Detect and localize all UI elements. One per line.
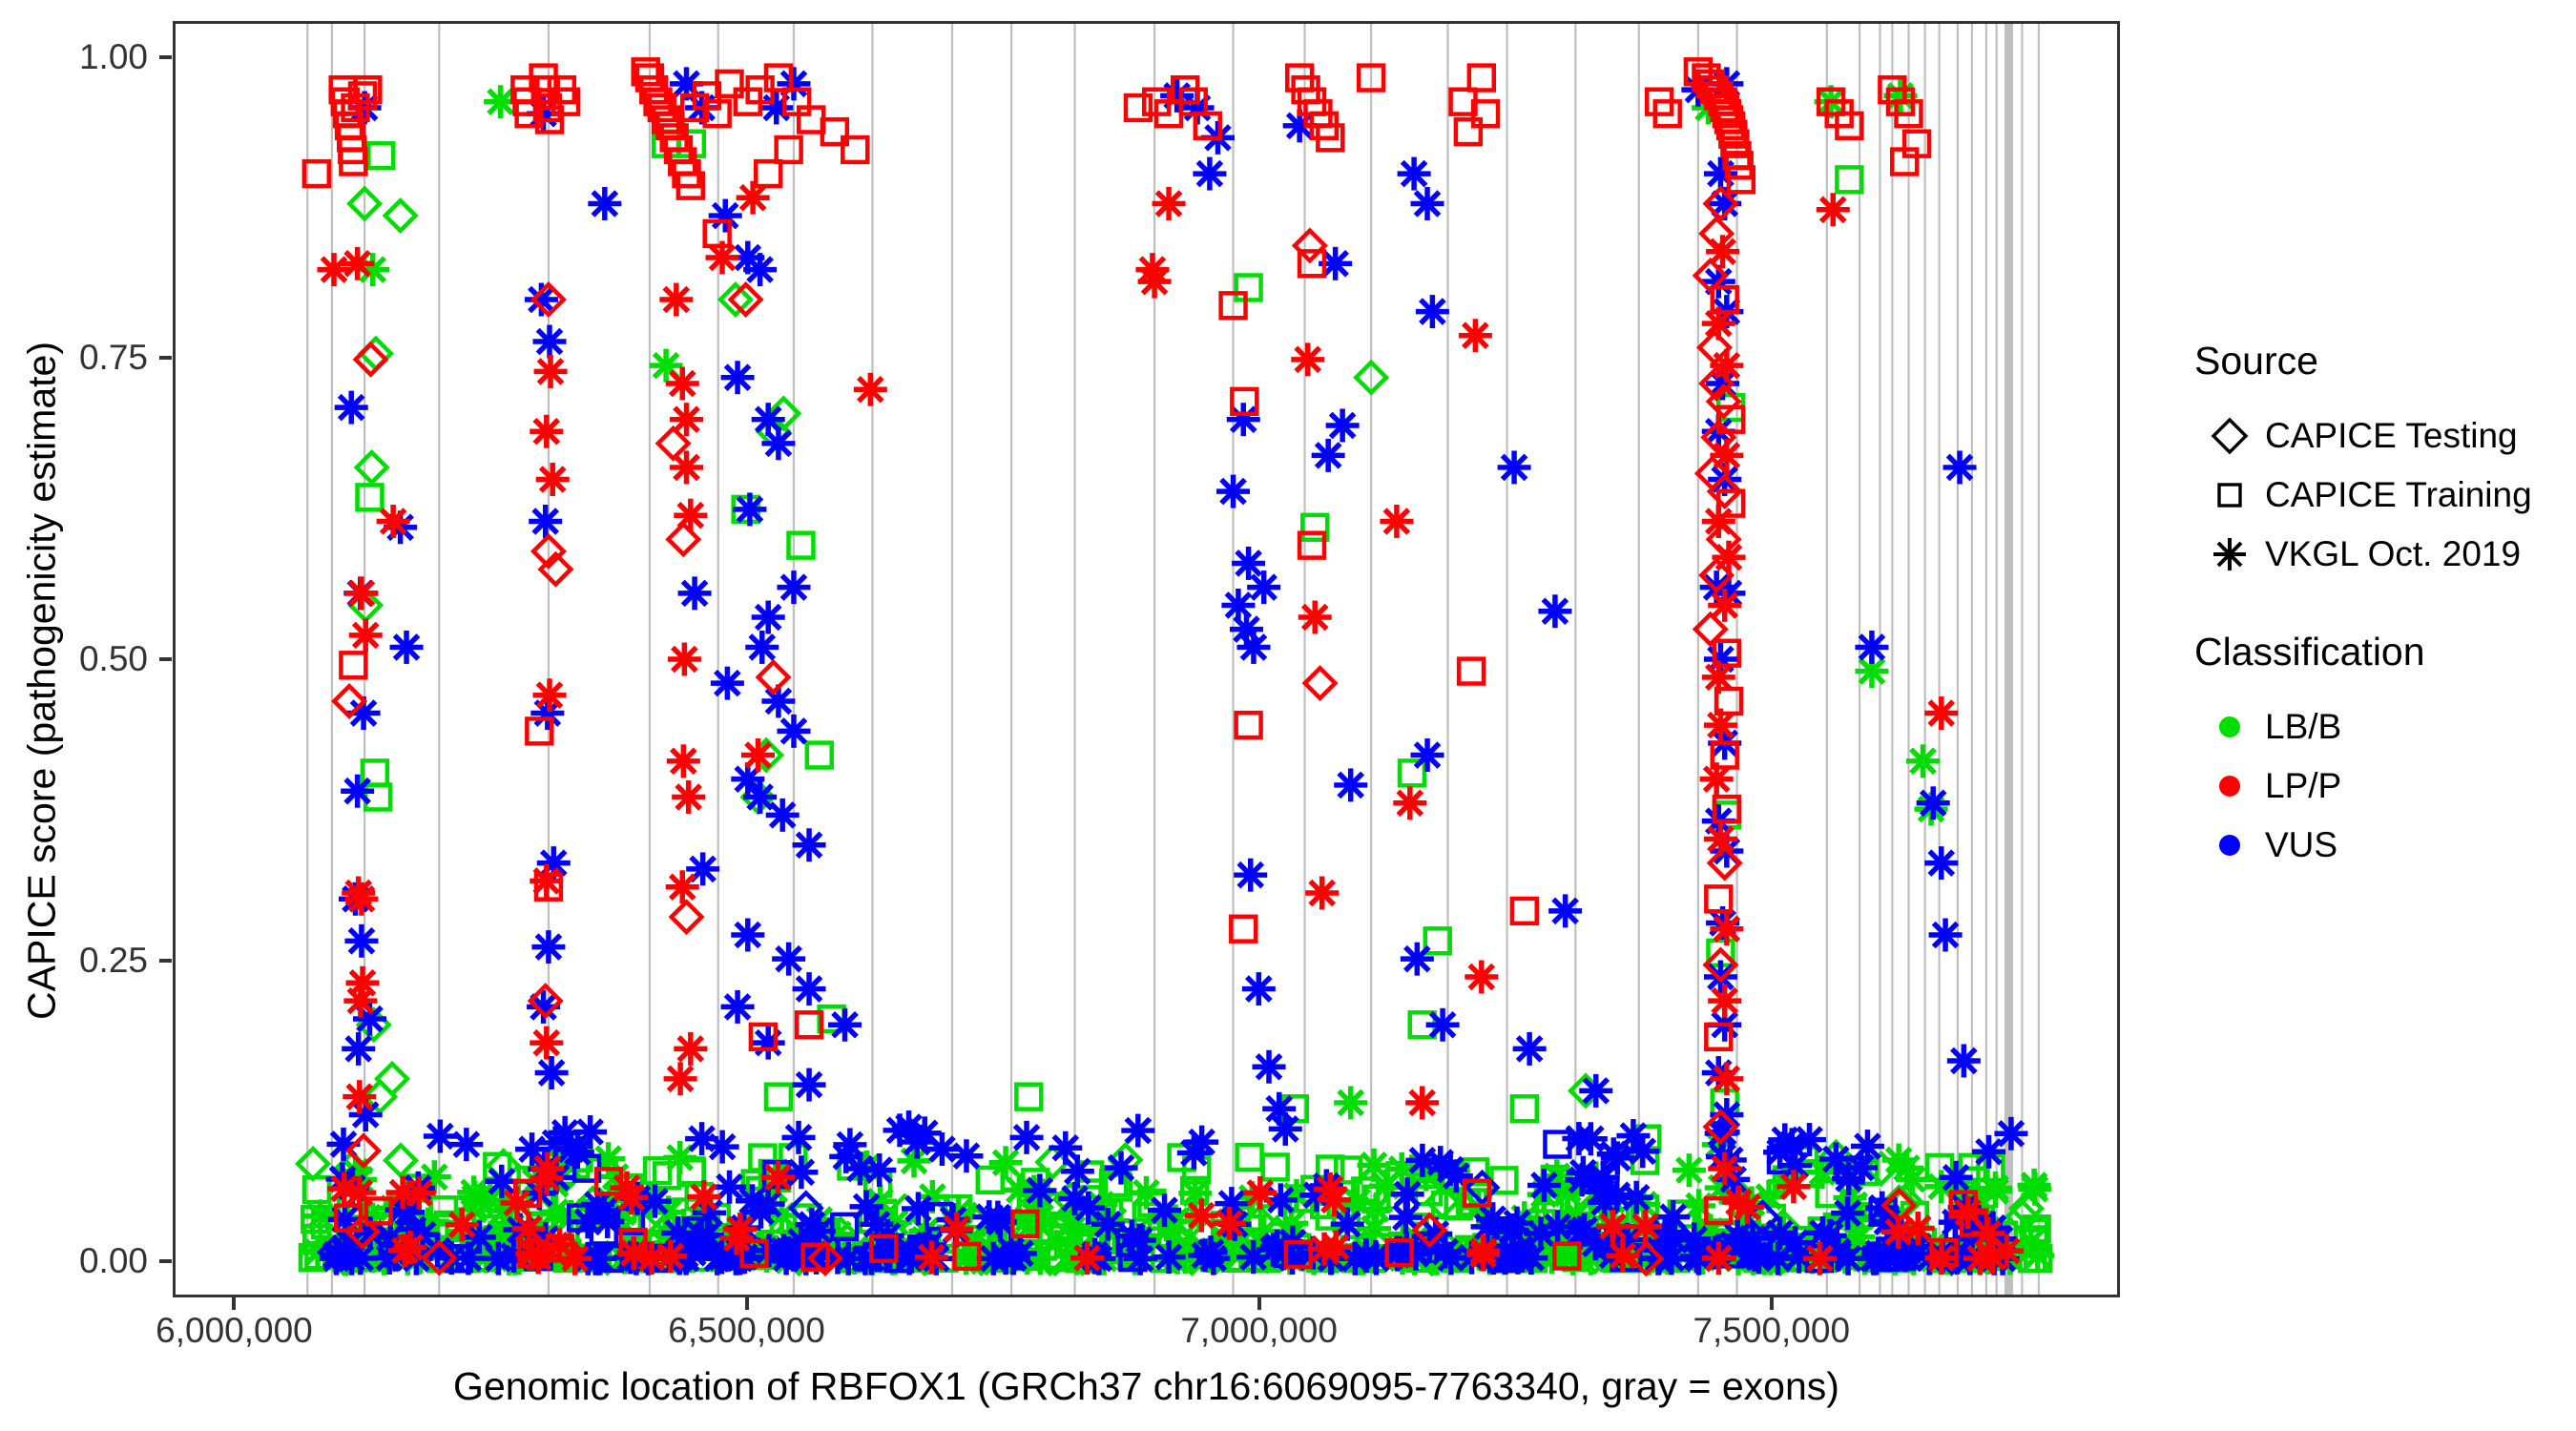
marker-asterisk: [782, 1121, 816, 1154]
marker-asterisk: [902, 1192, 935, 1225]
marker-asterisk: [1704, 961, 1737, 994]
asterisk-icon: [2194, 532, 2265, 576]
marker-diamond: [1305, 668, 1336, 698]
marker-asterisk: [997, 1241, 1030, 1275]
marker-square: [1237, 1145, 1262, 1170]
marker-diamond: [720, 284, 751, 315]
marker-diamond: [361, 339, 391, 369]
marker-asterisk: [341, 247, 374, 280]
marker-square: [1231, 917, 1256, 942]
marker-asterisk: [670, 450, 703, 484]
marker-asterisk: [1708, 985, 1741, 1018]
marker-asterisk: [1929, 919, 1963, 952]
marker-asterisk: [772, 943, 805, 976]
marker-asterisk: [752, 601, 785, 634]
marker-asterisk: [664, 1062, 697, 1095]
marker-asterisk: [672, 780, 705, 814]
marker-asterisk: [1588, 1186, 1621, 1219]
x-axis-tick-label: 6,000,000: [156, 1311, 313, 1351]
marker-asterisk: [723, 1213, 757, 1246]
marker-asterisk: [1401, 943, 1434, 976]
marker-asterisk: [530, 1027, 563, 1060]
marker-asterisk: [343, 1176, 376, 1210]
marker-asterisk: [674, 1032, 707, 1066]
marker-asterisk: [1606, 1239, 1639, 1273]
marker-asterisk: [1601, 1141, 1634, 1174]
marker-asterisk: [1148, 1193, 1181, 1227]
marker-asterisk: [1411, 738, 1444, 772]
x-axis-tick-mark: [1770, 1297, 1774, 1310]
marker-asterisk: [883, 1113, 917, 1147]
marker-square: [365, 785, 390, 810]
marker-asterisk: [446, 1208, 479, 1241]
y-axis-tick-label: 0.50: [79, 639, 148, 679]
marker-diamond: [357, 452, 387, 483]
marker-asterisk: [531, 930, 565, 964]
marker-diamond: [758, 662, 789, 693]
marker-asterisk: [1234, 859, 1267, 892]
legend-title-source: Source: [2194, 339, 2566, 384]
marker-square: [1837, 167, 1861, 192]
marker-asterisk: [1704, 157, 1737, 191]
marker-asterisk: [635, 1241, 669, 1275]
marker-asterisk: [706, 241, 739, 275]
marker-asterisk: [1298, 601, 1332, 634]
marker-asterisk: [1105, 1151, 1138, 1185]
marker-asterisk: [666, 870, 699, 903]
legend-item-label: CAPICE Training: [2265, 475, 2532, 515]
marker-asterisk: [761, 426, 795, 460]
marker-asterisk: [1193, 157, 1226, 191]
marker-asterisk: [743, 253, 777, 286]
marker-asterisk: [687, 1180, 720, 1213]
marker-asterisk: [1596, 1210, 1630, 1243]
circle-icon: [2194, 705, 2265, 749]
y-axis-tick-mark: [159, 356, 172, 360]
marker-asterisk: [1058, 1182, 1091, 1215]
marker-asterisk: [1185, 1126, 1218, 1159]
marker-square: [756, 161, 780, 186]
marker-square: [766, 1085, 791, 1110]
x-axis-tick-label: 6,500,000: [668, 1311, 825, 1351]
marker-asterisk: [1579, 1074, 1612, 1108]
marker-square: [304, 161, 329, 186]
marker-asterisk: [666, 367, 699, 401]
legend-item-label: VKGL Oct. 2019: [2265, 534, 2521, 574]
marker-asterisk: [761, 1161, 795, 1194]
marker-asterisk: [1831, 1196, 1864, 1230]
plot-panel: [173, 21, 2120, 1297]
legend-item-label: CAPICE Testing: [2265, 416, 2518, 456]
marker-asterisk: [2021, 1238, 2054, 1272]
marker-asterisk: [1023, 1173, 1056, 1207]
legend-item-vus[interactable]: VUS: [2194, 816, 2566, 875]
marker-asterisk: [1925, 1241, 1959, 1275]
marker-asterisk: [1548, 894, 1582, 927]
legend-item-vkgl-oct-2019[interactable]: VKGL Oct. 2019: [2194, 525, 2566, 584]
marker-square: [1706, 886, 1731, 911]
marker-asterisk: [1405, 1144, 1439, 1177]
marker-asterisk: [854, 373, 887, 406]
marker-square: [1469, 66, 1494, 91]
marker-asterisk: [424, 1120, 457, 1153]
marker-asterisk: [1061, 1154, 1094, 1188]
marker-asterisk: [2018, 1169, 2051, 1202]
marker-asterisk: [1236, 631, 1270, 664]
marker-asterisk: [777, 67, 810, 100]
marker-asterisk: [515, 1132, 549, 1166]
marker-square: [777, 137, 801, 162]
marker-asterisk: [342, 1032, 375, 1066]
marker-asterisk: [1704, 709, 1737, 742]
marker-diamond: [731, 284, 761, 315]
marker-asterisk: [1710, 1062, 1743, 1095]
marker-asterisk: [1943, 450, 1977, 484]
marker-asterisk: [1629, 1210, 1662, 1243]
legend-item-label: LB/B: [2265, 707, 2341, 747]
marker-asterisk: [1153, 1240, 1186, 1274]
marker-asterisk: [534, 355, 568, 388]
marker-asterisk: [1708, 1152, 1741, 1186]
marker-asterisk: [1178, 1176, 1212, 1210]
marker-asterisk: [393, 1231, 426, 1264]
y-axis-tick-label: 0.00: [79, 1241, 148, 1281]
marker-square: [1459, 659, 1484, 684]
legend-container: SourceCAPICE TestingCAPICE TrainingVKGL …: [2194, 339, 2566, 875]
marker-asterisk: [1803, 1242, 1837, 1275]
marker-asterisk: [1242, 972, 1276, 1006]
marker-asterisk: [1963, 1242, 1997, 1275]
marker-square: [368, 143, 393, 168]
marker-asterisk: [1672, 1153, 1706, 1187]
diamond-icon: [2194, 414, 2265, 458]
marker-square: [1359, 66, 1383, 91]
y-axis-tick-label: 1.00: [79, 37, 148, 77]
y-axis-tick-mark: [159, 1259, 172, 1263]
marker-asterisk: [1416, 295, 1449, 328]
marker-asterisk: [344, 576, 378, 610]
marker-square: [1126, 95, 1151, 120]
legend-item-capice-training[interactable]: CAPICE Training: [2194, 466, 2566, 525]
marker-asterisk: [1731, 1191, 1764, 1224]
series-LPP: [304, 59, 2024, 1275]
marker-asterisk: [668, 643, 701, 676]
legend-item-lb-b[interactable]: LB/B: [2194, 697, 2566, 757]
marker-asterisk: [1312, 439, 1345, 472]
marker-asterisk: [343, 1080, 376, 1113]
marker-asterisk: [1498, 450, 1531, 484]
marker-diamond: [356, 344, 386, 375]
marker-asterisk: [1010, 1121, 1044, 1154]
marker-asterisk: [1153, 187, 1186, 220]
marker-asterisk: [1121, 1114, 1154, 1148]
scatter-points: [176, 24, 2117, 1295]
x-axis-tick-mark: [232, 1297, 236, 1310]
marker-asterisk: [1700, 762, 1734, 796]
marker-asterisk: [1465, 961, 1498, 994]
marker-square: [789, 533, 814, 558]
marker-asterisk: [1070, 1241, 1104, 1275]
marker-asterisk: [1426, 1008, 1460, 1042]
marker-asterisk: [1817, 193, 1850, 226]
marker-asterisk: [343, 985, 377, 1018]
marker-asterisk: [1393, 786, 1426, 819]
marker-asterisk: [1262, 1092, 1296, 1126]
y-axis-tick-label: 0.75: [79, 338, 148, 378]
marker-asterisk: [529, 505, 562, 538]
marker-asterisk: [1253, 1050, 1286, 1084]
marker-asterisk: [1994, 1117, 2027, 1151]
marker-asterisk: [530, 1152, 564, 1186]
marker-asterisk: [1832, 1162, 1865, 1195]
marker-diamond: [377, 1064, 407, 1094]
marker-asterisk: [1326, 408, 1360, 442]
marker-asterisk: [1221, 589, 1255, 622]
marker-square: [1016, 1085, 1041, 1110]
marker-asterisk: [915, 1240, 948, 1274]
legend-title-classification: Classification: [2194, 630, 2566, 674]
marker-square: [807, 743, 832, 768]
x-axis-tick-label: 7,500,000: [1693, 1311, 1850, 1351]
marker-asterisk: [1924, 846, 1958, 880]
marker-square: [1512, 1096, 1537, 1121]
series-LBB: [298, 79, 2054, 1275]
marker-asterisk: [766, 798, 800, 832]
marker-asterisk: [530, 415, 563, 448]
legend-item-label: VUS: [2265, 825, 2337, 865]
marker-asterisk: [533, 325, 567, 359]
marker-asterisk: [862, 1153, 896, 1187]
marker-asterisk: [1924, 696, 1958, 730]
y-axis-label: CAPICE score (pathogenicity estimate): [20, 204, 65, 1158]
marker-diamond: [672, 902, 702, 932]
marker-asterisk: [721, 361, 755, 394]
marker-asterisk: [711, 667, 744, 700]
legend-spacer: [2194, 584, 2566, 630]
marker-asterisk: [752, 1027, 785, 1060]
marker-asterisk: [1291, 342, 1324, 376]
marker-asterisk: [793, 1068, 826, 1102]
marker-asterisk: [536, 463, 570, 496]
marker-asterisk: [335, 391, 368, 425]
marker-square: [1456, 119, 1481, 144]
x-axis-tick-mark: [745, 1297, 749, 1310]
marker-asterisk: [770, 1242, 803, 1275]
marker-diamond: [668, 525, 698, 555]
marker-asterisk: [1305, 877, 1339, 910]
marker-asterisk: [667, 744, 700, 778]
marker-diamond: [385, 200, 416, 231]
marker-asterisk: [659, 283, 693, 317]
marker-diamond: [658, 428, 689, 459]
circle-icon: [2194, 823, 2265, 867]
marker-asterisk: [1538, 594, 1571, 628]
chart-root: CAPICE score (pathogenicity estimate) 0.…: [0, 0, 2576, 1431]
marker-diamond: [385, 1146, 416, 1176]
marker-asterisk: [1247, 570, 1280, 604]
marker-asterisk: [1185, 1199, 1218, 1233]
marker-asterisk: [1405, 1086, 1439, 1119]
marker-asterisk: [759, 91, 793, 124]
marker-asterisk: [344, 882, 378, 916]
marker-asterisk: [533, 678, 567, 712]
marker-asterisk: [741, 738, 775, 772]
marker-asterisk: [1314, 1172, 1347, 1206]
marker-asterisk: [731, 919, 764, 952]
marker-asterisk: [1626, 1134, 1659, 1168]
marker-square: [1512, 899, 1537, 923]
marker-asterisk: [721, 990, 755, 1024]
marker-asterisk: [1972, 1135, 2005, 1169]
circle-icon: [2194, 764, 2265, 808]
marker-asterisk: [989, 1146, 1023, 1179]
marker-square: [1263, 1155, 1288, 1180]
x-axis-tick-mark: [1257, 1297, 1261, 1310]
marker-asterisk: [1620, 1181, 1653, 1214]
y-axis-tick-mark: [159, 959, 172, 963]
marker-asterisk: [1906, 744, 1940, 778]
x-axis-label: Genomic location of RBFOX1 (GRCh37 chr16…: [173, 1364, 2120, 1409]
marker-square: [1545, 1132, 1569, 1157]
marker-asterisk: [554, 1132, 588, 1166]
marker-asterisk: [1513, 1032, 1547, 1066]
marker-asterisk: [1398, 157, 1431, 191]
marker-asterisk: [1710, 439, 1743, 472]
marker-asterisk: [777, 570, 810, 604]
marker-asterisk: [1574, 1122, 1608, 1155]
marker-asterisk: [1213, 1207, 1246, 1240]
marker-asterisk: [1527, 1169, 1561, 1202]
marker-asterisk: [1713, 541, 1746, 574]
series-VUS: [320, 67, 2027, 1275]
marker-diamond: [349, 189, 380, 219]
marker-asterisk: [1380, 505, 1413, 538]
marker-asterisk: [1216, 475, 1250, 508]
y-axis-tick-label: 0.25: [79, 941, 148, 981]
marker-square: [358, 485, 383, 509]
marker-asterisk: [1466, 1238, 1500, 1272]
marker-asterisk: [1350, 1239, 1383, 1273]
marker-asterisk: [449, 1128, 483, 1161]
legend-item-label: LP/P: [2265, 766, 2341, 806]
marker-asterisk: [1768, 1123, 1801, 1156]
marker-asterisk: [1702, 1241, 1735, 1275]
marker-asterisk: [1776, 1170, 1810, 1203]
marker-asterisk: [828, 1008, 862, 1042]
marker-asterisk: [1459, 319, 1492, 352]
marker-asterisk: [685, 1122, 718, 1155]
marker-asterisk: [588, 187, 621, 220]
marker-asterisk: [745, 631, 779, 664]
marker-asterisk: [949, 1139, 983, 1172]
marker-square: [1221, 293, 1246, 318]
marker-asterisk: [1195, 1235, 1228, 1269]
marker-asterisk: [1940, 1161, 1973, 1194]
marker-square: [304, 1177, 329, 1202]
marker-asterisk: [341, 775, 374, 808]
marker-asterisk: [344, 924, 378, 958]
marker-square: [341, 653, 365, 677]
marker-asterisk: [925, 1132, 959, 1166]
y-axis-tick-mark: [159, 55, 172, 59]
marker-asterisk: [1138, 265, 1172, 299]
marker-asterisk: [1710, 912, 1743, 945]
marker-square: [1236, 276, 1261, 301]
marker-asterisk: [535, 1056, 569, 1089]
marker-square: [1236, 713, 1261, 737]
marker-asterisk: [303, 1199, 337, 1233]
marker-asterisk: [793, 972, 826, 1006]
marker-asterisk: [1855, 631, 1888, 664]
marker-asterisk: [1243, 1176, 1277, 1210]
marker-asterisk: [1917, 786, 1950, 819]
marker-asterisk: [733, 492, 766, 526]
marker-asterisk: [1947, 1044, 1981, 1077]
marker-asterisk: [709, 199, 742, 233]
marker-asterisk: [1334, 1086, 1367, 1119]
y-axis-tick-mark: [159, 657, 172, 661]
marker-asterisk: [678, 576, 712, 610]
x-axis-tick-label: 7,000,000: [1180, 1311, 1338, 1351]
marker-asterisk: [403, 1176, 436, 1210]
marker-asterisk: [833, 1128, 866, 1161]
marker-asterisk: [1411, 187, 1444, 220]
legend-item-capice-testing[interactable]: CAPICE Testing: [2194, 406, 2566, 466]
marker-asterisk: [349, 618, 383, 652]
marker-asterisk: [743, 780, 777, 814]
marker-asterisk: [318, 253, 351, 286]
marker-diamond: [298, 1149, 328, 1179]
square-icon: [2194, 473, 2265, 517]
legend-item-lp-p[interactable]: LP/P: [2194, 757, 2566, 816]
marker-asterisk: [515, 1237, 549, 1271]
marker-asterisk: [777, 715, 810, 748]
marker-asterisk: [377, 505, 410, 538]
marker-asterisk: [1308, 1233, 1341, 1266]
marker-asterisk: [940, 1213, 973, 1246]
marker-asterisk: [1334, 768, 1367, 801]
marker-asterisk: [793, 828, 826, 861]
marker-asterisk: [1232, 547, 1265, 580]
marker-asterisk: [390, 631, 424, 664]
marker-diamond: [1356, 363, 1386, 393]
